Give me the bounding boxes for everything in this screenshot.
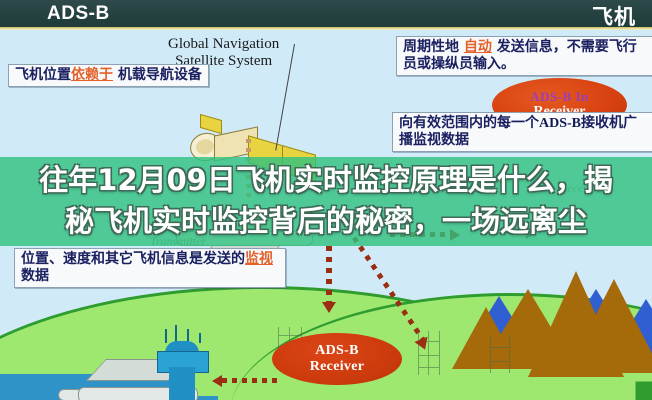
gnss-line-1: Global Navigation xyxy=(168,36,279,53)
overlay-title-line-2: 秘飞机实时监控背后的秘密，一场远离尘 xyxy=(12,201,640,242)
mountain-brown-3 xyxy=(566,279,652,373)
callout-range-broadcast-text: 向有效范围内的每一个 xyxy=(399,115,539,131)
receiver-label-bottom: Receiver xyxy=(310,359,364,375)
callout-surveillance-data-highlight: 监视 xyxy=(245,251,273,267)
overlay-title-line-1: 往年12月09日飞机实时监控原理是什么，揭 xyxy=(12,160,640,201)
callout-aircraft-position-prefix: 飞机位置 xyxy=(15,67,71,83)
callout-range-broadcast-en: ADS-B xyxy=(539,116,581,131)
ground-antenna-3 xyxy=(490,335,510,373)
callout-surveillance-data: 位置、速度和其它飞机信息是发送的监视 数据 xyxy=(14,248,286,288)
callout-aircraft-position-highlight: 依赖于 xyxy=(71,67,113,83)
callout-auto-broadcast-highlight: 自动 xyxy=(464,39,492,55)
header-gold-rule xyxy=(0,27,652,30)
top-header-bar: ADS-B 飞机 xyxy=(0,0,652,30)
callout-aircraft-position-suffix: 机载导航设备 xyxy=(113,67,202,83)
callout-surveillance-data-suffix: 数据 xyxy=(21,268,49,284)
callout-auto-broadcast-prefix: 周期性地 xyxy=(403,39,464,55)
signal-arrow-to-tower xyxy=(212,375,282,387)
signal-arrow-down-left xyxy=(324,246,338,316)
screenshot-root: Transmitter Receiver xyxy=(0,0,652,400)
overlay-title: 往年12月09日飞机实时监控原理是什么，揭 秘飞机实时监控背后的秘密，一场远离尘 xyxy=(0,160,652,242)
header-ads-b-label: ADS-B xyxy=(47,3,110,25)
callout-aircraft-position: 飞机位置依赖于 机载导航设备 xyxy=(8,64,209,87)
ads-b-in-label: ADS-B In xyxy=(530,90,589,104)
callout-range-broadcast: 向有效范围内的每一个ADS-B接收机广播监视数据 xyxy=(392,112,652,152)
ads-b-receiver-badge: ADS-B Receiver xyxy=(272,333,402,385)
ads-b-label-bottom: ADS-B xyxy=(315,343,359,359)
callout-surveillance-data-prefix: 位置、速度和其它飞机信息是发送的 xyxy=(21,251,245,267)
callout-auto-broadcast: 周期性地 自动 发送信息，不需要飞行员或操纵员输入。 xyxy=(396,36,652,76)
